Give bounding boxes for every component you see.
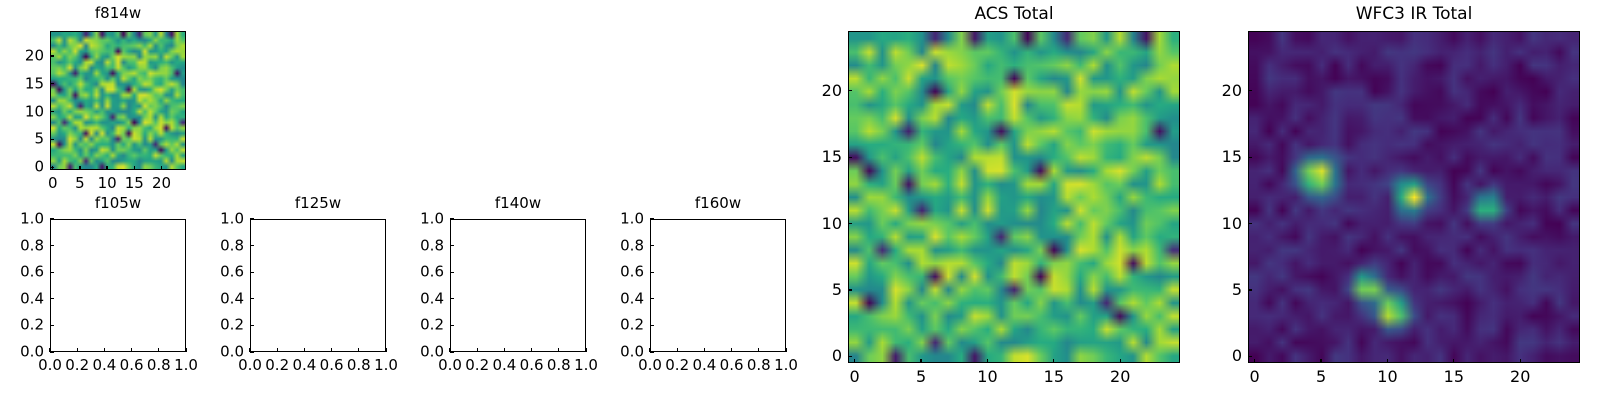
y-tick-label: 20 (0, 49, 44, 64)
x-tick-mark (477, 348, 478, 352)
x-tick-label: 0.2 (65, 358, 89, 373)
y-tick-label: 10 (1160, 216, 1242, 232)
y-tick-mark (848, 356, 852, 357)
y-tick-label: 1.0 (162, 212, 244, 227)
x-tick-label: 0.6 (720, 358, 744, 373)
axes-acs-total[interactable] (848, 31, 1180, 363)
x-tick-mark (854, 359, 855, 363)
y-tick-label: 0.8 (162, 238, 244, 253)
x-tick-mark (131, 348, 132, 352)
heatmap-f814w (51, 32, 185, 169)
axes-f814w[interactable] (50, 31, 186, 170)
y-tick-mark (50, 139, 54, 140)
x-tick-label: 15 (1444, 369, 1464, 385)
y-tick-mark (450, 272, 454, 273)
x-tick-label: 1.0 (174, 358, 198, 373)
y-tick-mark (450, 298, 454, 299)
x-tick-label: 10 (98, 176, 117, 191)
x-tick-mark (161, 166, 162, 170)
x-tick-mark (920, 359, 921, 363)
y-tick-label: 0.2 (0, 318, 44, 333)
y-tick-mark (50, 218, 54, 219)
y-tick-label: 0 (1160, 348, 1242, 364)
x-tick-label: 0.8 (147, 358, 171, 373)
panel-title-f814w: f814w (50, 6, 186, 21)
y-tick-mark (450, 325, 454, 326)
y-tick-mark (450, 218, 454, 219)
x-tick-mark (358, 348, 359, 352)
y-tick-mark (848, 157, 852, 158)
y-tick-mark (650, 298, 654, 299)
y-tick-mark (650, 245, 654, 246)
x-tick-label: 5 (916, 369, 926, 385)
y-tick-label: 0.2 (162, 318, 244, 333)
y-tick-label: 5 (0, 132, 44, 147)
y-tick-mark (250, 351, 254, 352)
y-tick-mark (250, 325, 254, 326)
x-tick-label: 20 (1510, 369, 1530, 385)
x-tick-label: 1.0 (574, 358, 598, 373)
y-tick-label: 5 (1160, 282, 1242, 298)
panel-title-acs-total: ACS Total (848, 6, 1180, 23)
x-tick-mark (134, 166, 135, 170)
x-tick-mark (704, 348, 705, 352)
y-tick-label: 0.4 (162, 291, 244, 306)
x-tick-mark (504, 348, 505, 352)
x-tick-mark (158, 348, 159, 352)
y-tick-mark (650, 218, 654, 219)
x-tick-mark (79, 166, 80, 170)
x-tick-mark (1520, 359, 1521, 363)
heatmap-acs-total (849, 32, 1179, 362)
x-tick-mark (304, 348, 305, 352)
y-tick-mark (650, 351, 654, 352)
y-tick-mark (50, 167, 54, 168)
y-tick-label: 0.4 (562, 291, 644, 306)
y-tick-mark (1248, 157, 1252, 158)
y-tick-mark (848, 90, 852, 91)
y-tick-label: 0.0 (0, 345, 44, 360)
panel-title-f105w: f105w (50, 196, 186, 211)
x-tick-mark (1254, 359, 1255, 363)
y-tick-label: 20 (760, 83, 842, 99)
x-tick-label: 0 (1250, 369, 1260, 385)
y-tick-label: 1.0 (362, 212, 444, 227)
y-tick-mark (50, 272, 54, 273)
y-tick-mark (250, 218, 254, 219)
y-tick-label: 15 (0, 76, 44, 91)
x-tick-mark (1320, 359, 1321, 363)
y-tick-mark (650, 325, 654, 326)
x-tick-label: 0.4 (92, 358, 116, 373)
y-tick-mark (50, 351, 54, 352)
axes-wfc3-ir-total[interactable] (1248, 31, 1580, 363)
y-tick-label: 0.8 (362, 238, 444, 253)
y-tick-label: 0.8 (562, 238, 644, 253)
y-tick-label: 20 (1160, 83, 1242, 99)
y-tick-mark (50, 298, 54, 299)
x-tick-mark (104, 348, 105, 352)
y-tick-mark (50, 325, 54, 326)
x-tick-label: 0.4 (692, 358, 716, 373)
y-tick-label: 10 (760, 216, 842, 232)
y-tick-label: 0 (760, 348, 842, 364)
x-tick-label: 15 (1044, 369, 1064, 385)
x-tick-label: 0.6 (520, 358, 544, 373)
heatmap-wfc3-ir-total (1249, 32, 1579, 362)
y-tick-label: 0.6 (162, 265, 244, 280)
x-tick-mark (1387, 359, 1388, 363)
y-tick-label: 10 (0, 104, 44, 119)
y-tick-label: 1.0 (0, 212, 44, 227)
x-tick-mark (1120, 359, 1121, 363)
x-tick-mark (1053, 359, 1054, 363)
y-tick-label: 0.4 (362, 291, 444, 306)
y-tick-label: 0.0 (162, 345, 244, 360)
y-tick-label: 5 (760, 282, 842, 298)
x-tick-label: 5 (1316, 369, 1326, 385)
y-tick-mark (450, 351, 454, 352)
y-tick-mark (650, 272, 654, 273)
y-tick-label: 0.6 (362, 265, 444, 280)
x-tick-mark (331, 348, 332, 352)
y-tick-mark (50, 55, 54, 56)
y-tick-label: 0.0 (362, 345, 444, 360)
y-tick-label: 0 (0, 160, 44, 175)
y-tick-label: 0.8 (0, 238, 44, 253)
y-tick-mark (50, 111, 54, 112)
x-tick-label: 15 (125, 176, 144, 191)
x-tick-mark (77, 348, 78, 352)
y-tick-mark (450, 245, 454, 246)
y-tick-mark (50, 245, 54, 246)
y-tick-mark (848, 223, 852, 224)
y-tick-mark (1248, 90, 1252, 91)
x-tick-label: 1.0 (374, 358, 398, 373)
x-tick-label: 0.2 (265, 358, 289, 373)
x-tick-label: 10 (977, 369, 997, 385)
y-tick-label: 0.2 (362, 318, 444, 333)
x-tick-label: 0.6 (120, 358, 144, 373)
x-tick-label: 0 (48, 176, 58, 191)
x-tick-mark (106, 166, 107, 170)
panel-title-f140w: f140w (450, 196, 586, 211)
y-tick-mark (1248, 223, 1252, 224)
x-tick-mark (731, 348, 732, 352)
x-tick-label: 0.6 (320, 358, 344, 373)
x-tick-label: 5 (75, 176, 85, 191)
y-tick-label: 0.6 (0, 265, 44, 280)
y-tick-label: 15 (1160, 149, 1242, 165)
y-tick-label: 15 (760, 149, 842, 165)
x-tick-label: 20 (152, 176, 171, 191)
y-tick-label: 0.0 (562, 345, 644, 360)
x-tick-label: 0 (850, 369, 860, 385)
x-tick-label: 0.2 (465, 358, 489, 373)
y-tick-mark (250, 272, 254, 273)
x-tick-mark (277, 348, 278, 352)
y-tick-mark (250, 245, 254, 246)
panel-title-f125w: f125w (250, 196, 386, 211)
y-tick-mark (1248, 356, 1252, 357)
x-tick-mark (1453, 359, 1454, 363)
y-tick-mark (1248, 289, 1252, 290)
y-tick-mark (250, 298, 254, 299)
matplotlib-figure: f814w f105w f125w f140w f160w ACS Total (0, 0, 1600, 400)
x-tick-label: 0.8 (347, 358, 371, 373)
x-tick-label: 0.2 (665, 358, 689, 373)
x-tick-mark (558, 348, 559, 352)
panel-title-wfc3-ir-total: WFC3 IR Total (1248, 6, 1580, 23)
x-tick-label: 20 (1110, 369, 1130, 385)
x-tick-label: 10 (1377, 369, 1397, 385)
x-tick-label: 0.4 (292, 358, 316, 373)
y-tick-label: 0.2 (562, 318, 644, 333)
x-tick-mark (677, 348, 678, 352)
panel-title-f160w: f160w (650, 196, 786, 211)
x-tick-label: 0.4 (492, 358, 516, 373)
y-tick-label: 1.0 (562, 212, 644, 227)
x-tick-label: 0.8 (547, 358, 571, 373)
y-tick-label: 0.6 (562, 265, 644, 280)
x-tick-mark (531, 348, 532, 352)
x-tick-mark (987, 359, 988, 363)
y-tick-mark (848, 289, 852, 290)
y-tick-mark (50, 83, 54, 84)
y-tick-label: 0.4 (0, 291, 44, 306)
